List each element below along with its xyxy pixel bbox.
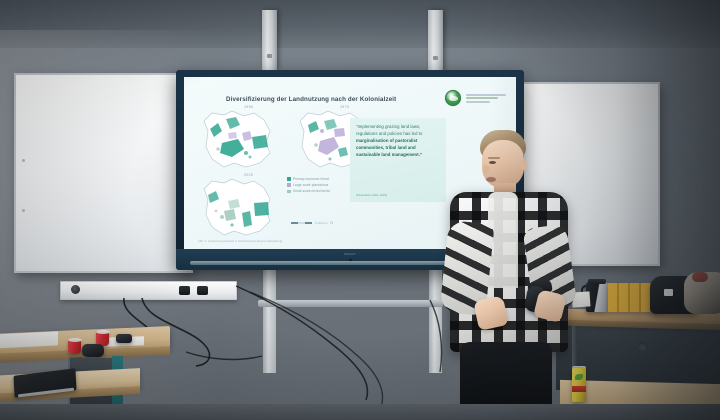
whiteboard-screw (22, 159, 25, 162)
legend-swatch-farms (287, 190, 291, 194)
scalebar-segment (305, 222, 312, 224)
left-whiteboard (14, 73, 193, 273)
quote-source: (Pastoralism Atlas, 2022) (356, 193, 387, 197)
legend-item: Primary monsoon forest (287, 177, 330, 181)
display-mount-rail-right (428, 10, 443, 72)
map-1950-svg (198, 109, 276, 171)
map-2020: 2020 (198, 177, 276, 239)
black-device (116, 334, 132, 343)
north-arrow-icon: N (330, 220, 333, 225)
legend-swatch-forest (287, 177, 291, 181)
slide-title: Diversifizierung der Landnutzung nach de… (226, 96, 396, 103)
display-mount-rail-left-lower (263, 255, 276, 373)
black-device (82, 344, 104, 357)
rail-notch (267, 54, 272, 58)
rail-notch (433, 56, 438, 60)
scalebar-segment (291, 222, 298, 224)
quote-text-leading: “Implementing grazing land laws, regulat… (356, 124, 422, 136)
legend-label: Small-scale mixed farms (293, 189, 330, 193)
power-socket[interactable] (71, 285, 80, 294)
presentation-room-photo: Diversifizierung der Landnutzung nach de… (0, 0, 720, 420)
display-mount-crossbar (258, 300, 443, 307)
wall-socket-strip[interactable] (60, 281, 237, 300)
scalebar-label: 0 100 km (315, 221, 327, 225)
map-legend: Primary monsoon forest Large-scale plant… (287, 177, 330, 193)
slide-source-note: Abb. 3: Landnutzungswandel in Nordost-Ke… (198, 240, 282, 243)
quote-text-emphasis: marginalisation of pastoralist communiti… (356, 138, 422, 157)
green-globe-logo-icon (445, 90, 461, 106)
legend-label: Primary monsoon forest (293, 177, 329, 181)
map-scalebar: 0 100 km N (291, 220, 333, 225)
map-1950-year: 1950 (244, 105, 253, 109)
legend-swatch-plantations (287, 183, 291, 187)
map-1975-year: 1975 (340, 105, 349, 109)
whiteboard-screw (22, 209, 25, 212)
scalebar-bar (291, 222, 312, 224)
legend-item: Small-scale mixed farms (287, 189, 330, 193)
quote-text: “Implementing grazing land laws, regulat… (356, 123, 440, 158)
display-mount-rail-left (262, 10, 277, 70)
map-2020-svg (198, 177, 276, 239)
wordmark-line (466, 101, 490, 103)
power-plug[interactable] (197, 286, 208, 295)
legend-label: Large-scale plantations (293, 183, 328, 187)
wall-right-shadow (490, 0, 720, 420)
scalebar-segment (298, 222, 305, 224)
legend-item: Large-scale plantations (287, 183, 330, 187)
red-cup (68, 339, 81, 354)
presenter-nose (483, 165, 490, 173)
power-plug[interactable] (179, 286, 190, 295)
map-1950: 1950 (198, 109, 276, 171)
map-2020-year: 2020 (244, 173, 253, 177)
display-brand-label: SMART (344, 252, 356, 256)
